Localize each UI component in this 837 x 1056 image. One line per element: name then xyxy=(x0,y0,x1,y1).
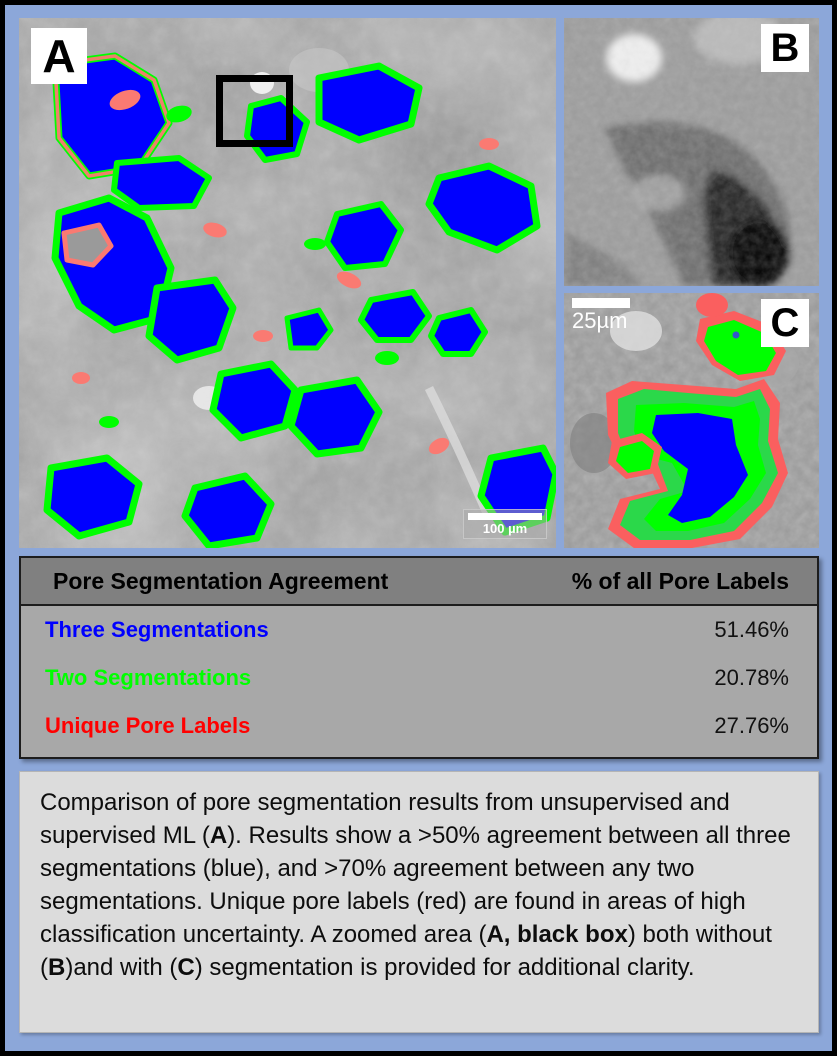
table-row: Three Segmentations 51.46% xyxy=(21,605,817,654)
header-agreement: Pore Segmentation Agreement xyxy=(21,558,515,605)
image-panels-block: A 100 µm xyxy=(19,18,819,548)
figure-caption-text: Comparison of pore segmentation results … xyxy=(40,786,800,984)
row-value-two-segmentations: 20.78% xyxy=(515,654,817,702)
panel-b: B xyxy=(564,18,819,286)
scalebar-c-bar xyxy=(572,298,630,308)
table-header-row: Pore Segmentation Agreement % of all Por… xyxy=(21,558,817,605)
panel-a-letter: A xyxy=(31,28,87,84)
seg-table: Pore Segmentation Agreement % of all Por… xyxy=(21,558,817,750)
header-percent: % of all Pore Labels xyxy=(515,558,817,605)
table-row: Unique Pore Labels 27.76% xyxy=(21,702,817,750)
panel-c-letter: C xyxy=(761,299,809,347)
scalebar-panel-c: 25µm xyxy=(572,298,630,333)
caption-part-4: )and with ( xyxy=(65,954,177,981)
caption-bold-b: B xyxy=(48,954,65,981)
segmentation-agreement-table: Pore Segmentation Agreement % of all Por… xyxy=(19,556,819,759)
caption-bold-blackbox: A, black box xyxy=(486,921,627,948)
table-body: Three Segmentations 51.46% Two Segmentat… xyxy=(21,605,817,750)
table-row: Two Segmentations 20.78% xyxy=(21,654,817,702)
row-label-three-segmentations: Three Segmentations xyxy=(21,605,515,654)
table-head: Pore Segmentation Agreement % of all Por… xyxy=(21,558,817,605)
row-value-unique-pore-labels: 27.76% xyxy=(515,702,817,750)
scalebar-c-label: 25µm xyxy=(572,309,630,333)
panel-c: 25µm C xyxy=(564,293,819,548)
scalebar-a-bar xyxy=(468,513,542,520)
figure-root: A 100 µm xyxy=(0,0,837,1056)
caption-bold-c: C xyxy=(177,954,194,981)
scalebar-a-label: 100 µm xyxy=(468,522,542,536)
panel-a: A 100 µm xyxy=(19,18,556,548)
row-value-three-segmentations: 51.46% xyxy=(515,605,817,654)
caption-bold-a: A xyxy=(210,822,227,849)
row-label-unique-pore-labels: Unique Pore Labels xyxy=(21,702,515,750)
row-label-two-segmentations: Two Segmentations xyxy=(21,654,515,702)
scalebar-panel-a: 100 µm xyxy=(463,509,547,539)
zoom-roi-box xyxy=(216,75,293,147)
caption-part-5: ) segmentation is provided for additiona… xyxy=(195,954,695,981)
panel-b-letter: B xyxy=(761,24,809,72)
figure-caption-block: Comparison of pore segmentation results … xyxy=(19,771,819,1033)
